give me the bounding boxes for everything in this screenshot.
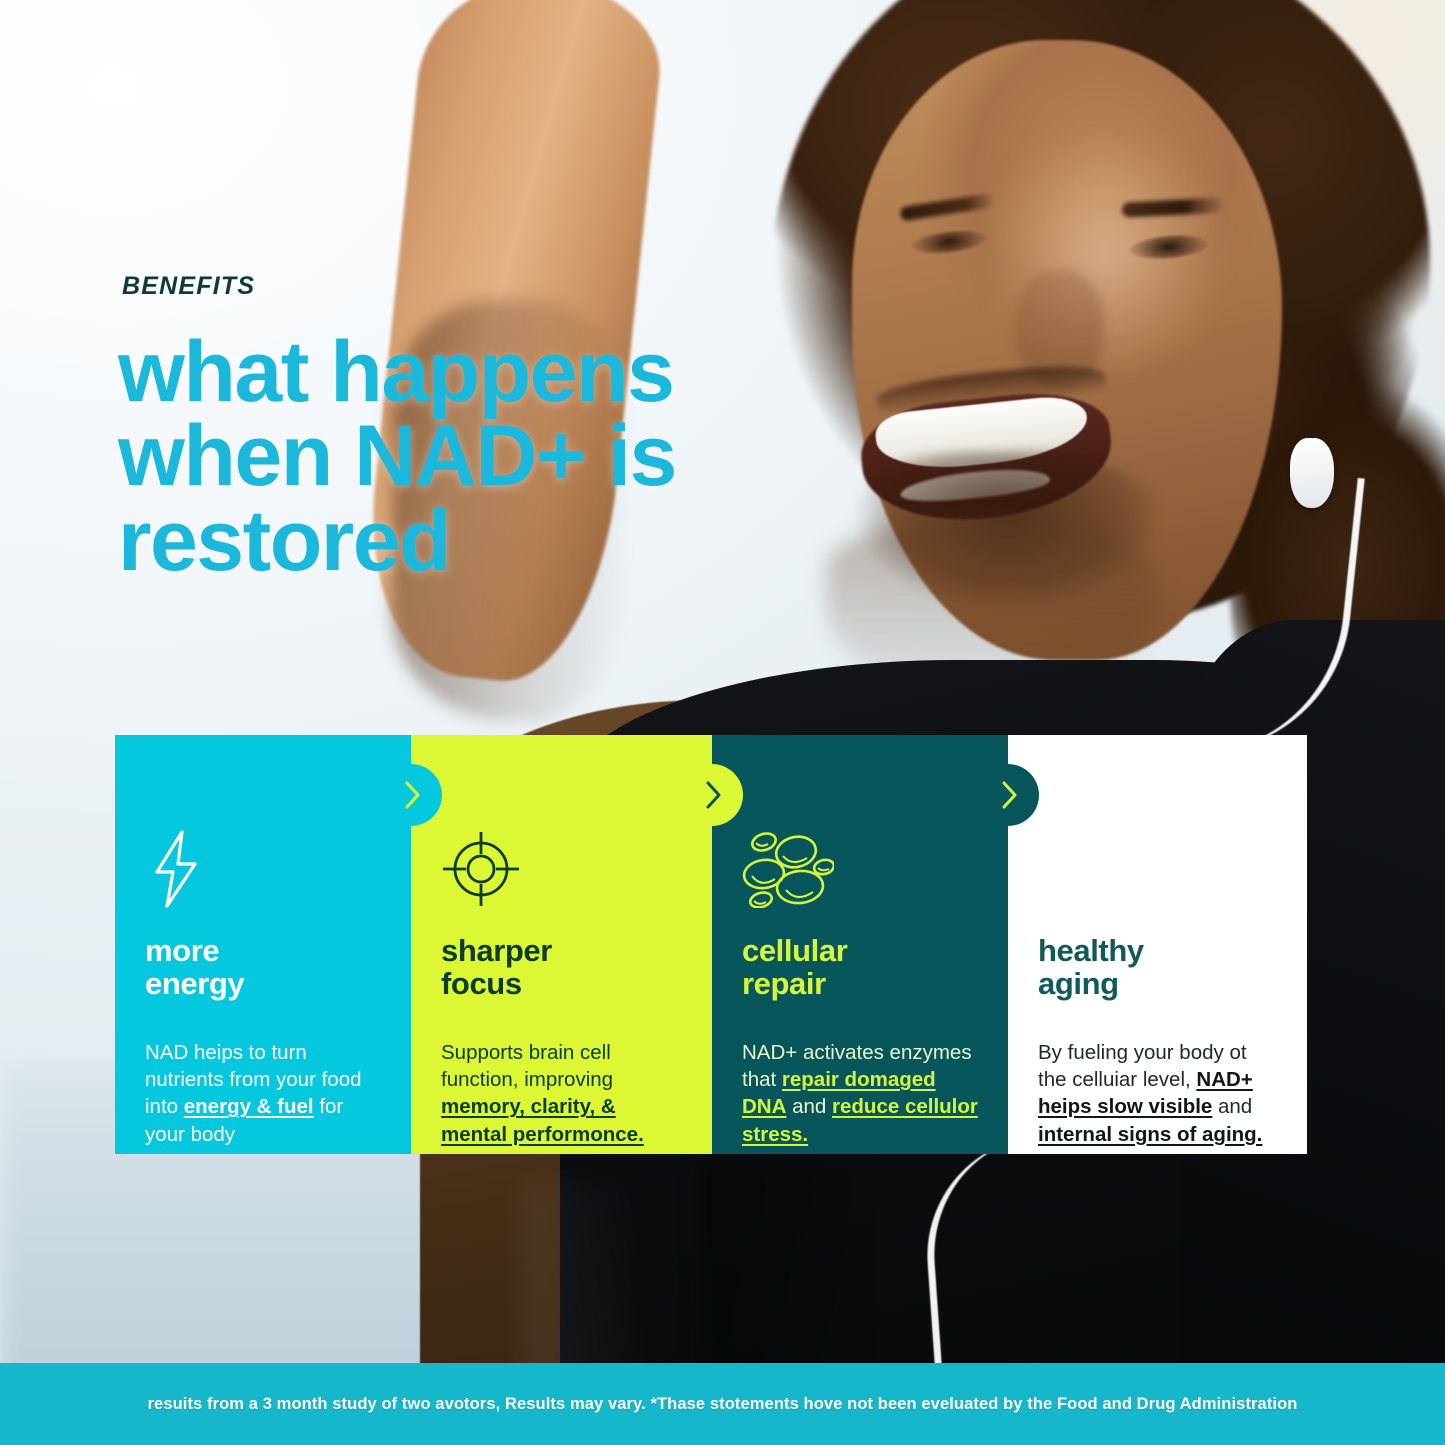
benefit-body-emphasis-2: internal signs of aging. [1038,1123,1262,1146]
lightning-bolt-icon [145,830,381,908]
page-title: what happens when NAD+ is restored [118,330,878,583]
benefit-title: healthy aging [1038,934,1277,1001]
chevron-connector-3 [977,764,1039,826]
background-photo [0,0,1445,1445]
benefit-title-line-1: cellular [742,933,847,968]
benefit-title: sharper focus [441,934,682,1001]
benefit-body: NAD heips to turn nutrients from your fo… [145,1039,381,1148]
benefit-card-healthy-aging[interactable]: healthy aging By fueling your body ot th… [1008,735,1307,1154]
benefit-body-mid: and [1212,1095,1252,1118]
benefit-body: By fueling your body ot the celluiar lev… [1038,1039,1277,1148]
benefit-card-cellular-repair[interactable]: cellular repair NAD+ activates enzymes t… [712,735,1008,1154]
benefit-body-mid: and [786,1095,832,1118]
headline-line-2: when NAD+ is [118,414,878,498]
benefit-title: cellular repair [742,934,978,1001]
benefit-card-row: more energy NAD heips to turn nutrients … [115,735,1307,1154]
chevron-right-icon [1000,780,1020,810]
benefit-title-line-2: repair [742,966,826,1001]
benefit-title-line-2: energy [145,966,244,1001]
benefit-title-line-1: sharper [441,933,552,968]
benefit-title: more energy [145,934,381,1001]
benefit-title-line-2: focus [441,966,522,1001]
eyebrow-label: BENEFITS [122,272,255,301]
poster-canvas: BENEFITS what happens when NAD+ is resto… [0,0,1445,1445]
benefit-body: Supports brain cell function, improving … [441,1039,682,1148]
benefit-title-line-2: aging [1038,966,1119,1001]
disclaimer-text: resuits from a 3 month study of two avot… [148,1395,1298,1414]
crosshair-target-icon [441,830,682,908]
headline-line-3: restored [118,499,878,583]
chevron-right-icon [403,780,423,810]
benefit-title-line-1: healthy [1038,933,1144,968]
benefit-body-emphasis: energy & fuel [184,1095,314,1118]
chevron-right-icon [704,780,724,810]
headline-line-1: what happens [118,330,878,414]
footer-bar: resuits from a 3 month study of two avot… [0,1363,1445,1445]
cells-cluster-icon [742,830,978,908]
chevron-connector-1 [380,764,442,826]
benefit-card-sharper-focus[interactable]: sharper focus Supports brain cell functi… [411,735,712,1154]
no-icon-placeholder [1038,830,1277,908]
benefit-body: NAD+ activates enzymes that repair domag… [742,1039,978,1148]
chevron-connector-2 [681,764,743,826]
benefit-body-emphasis: memory, clarity, & mental performonce. [441,1095,644,1145]
benefit-card-more-energy[interactable]: more energy NAD heips to turn nutrients … [115,735,411,1154]
benefit-body-pre: Supports brain cell function, improving [441,1041,613,1091]
benefit-title-line-1: more [145,933,219,968]
